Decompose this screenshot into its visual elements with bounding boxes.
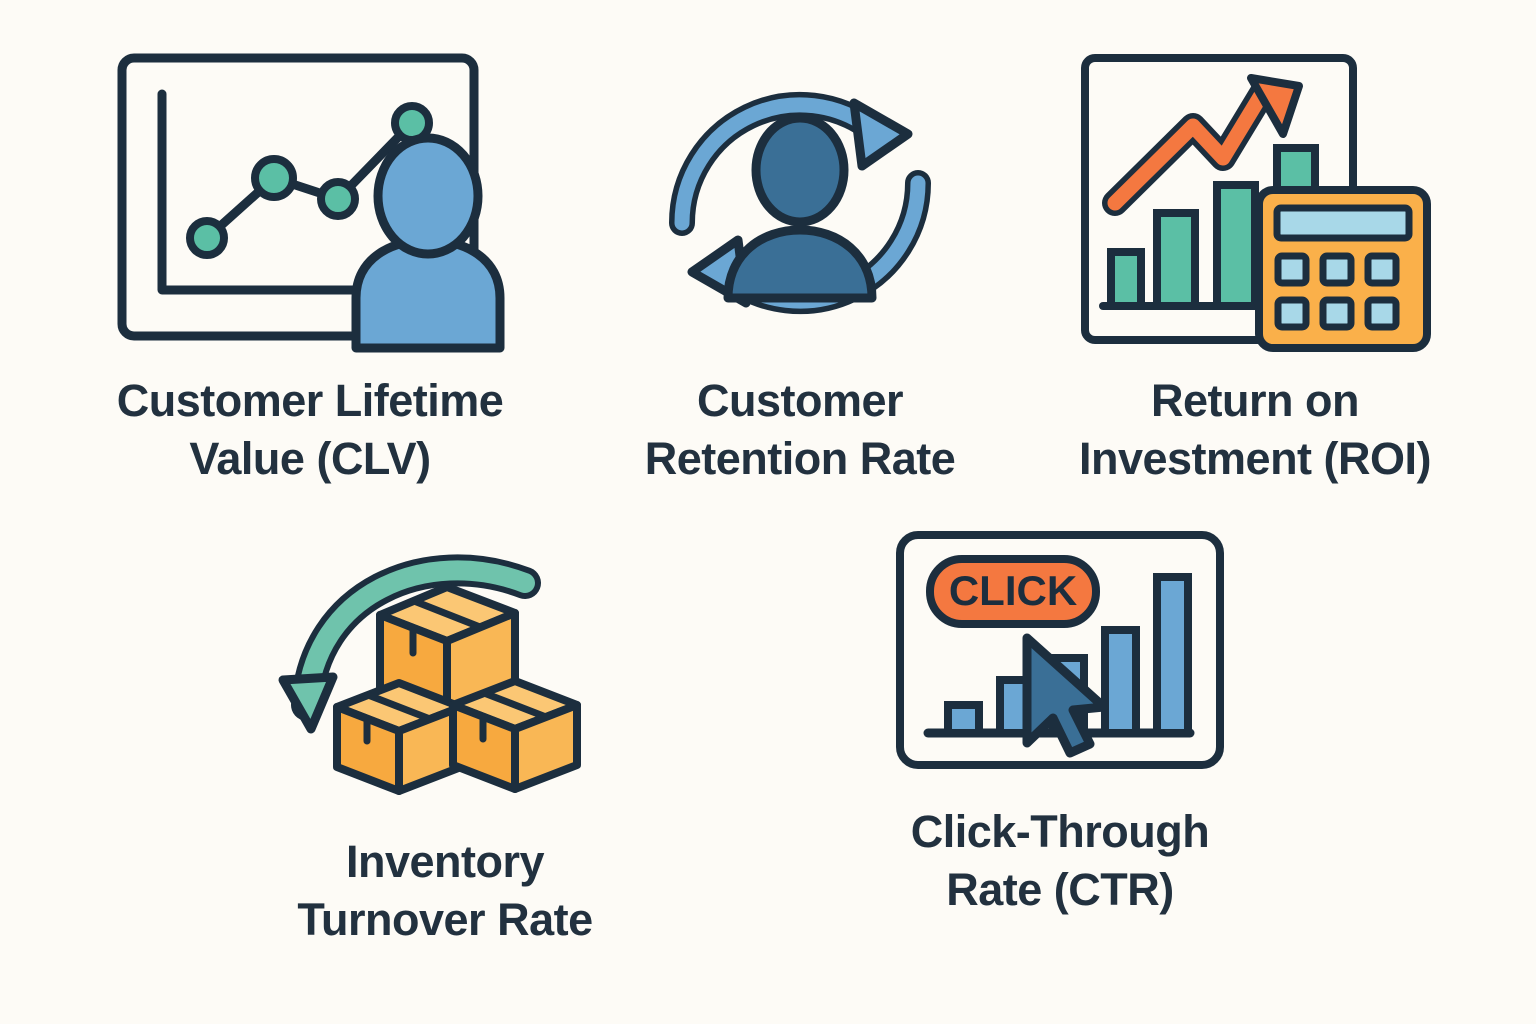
metric-card-clv-label: Customer LifetimeValue (CLV): [117, 372, 504, 487]
metric-card-roi: Return onInvestment (ROI): [1030, 48, 1480, 487]
click-button-bar-chart-cursor-icon: CLICK: [890, 525, 1230, 775]
roi-icon-wrap: [1075, 48, 1435, 358]
metric-card-inventory-label: InventoryTurnover Rate: [297, 833, 592, 948]
metric-card-crr-label: CustomerRetention Rate: [645, 372, 956, 487]
stacked-boxes-with-curved-arrow-icon: [275, 525, 615, 805]
bar-chart-upward-arrow-calculator-icon: [1075, 48, 1435, 358]
metric-card-ctr: CLICK Click-ThroughRate (CTR): [860, 525, 1260, 918]
ctr-icon-wrap: CLICK: [890, 525, 1230, 775]
person-with-circular-arrows-icon: [650, 48, 950, 358]
metric-card-crr: CustomerRetention Rate: [600, 48, 1000, 487]
presentation-line-chart-with-person-icon: [110, 48, 510, 358]
clv-icon-wrap: [110, 48, 510, 358]
click-badge-label: CLICK: [949, 567, 1077, 614]
metric-card-clv: Customer LifetimeValue (CLV): [70, 48, 550, 487]
inventory-icon-wrap: [275, 525, 615, 805]
infographic-canvas: Customer LifetimeValue (CLV) CustomerRet…: [0, 0, 1536, 1024]
crr-icon-wrap: [650, 48, 950, 358]
metric-card-inventory: InventoryTurnover Rate: [225, 525, 665, 948]
metric-card-roi-label: Return onInvestment (ROI): [1079, 372, 1431, 487]
metric-card-ctr-label: Click-ThroughRate (CTR): [911, 803, 1209, 918]
